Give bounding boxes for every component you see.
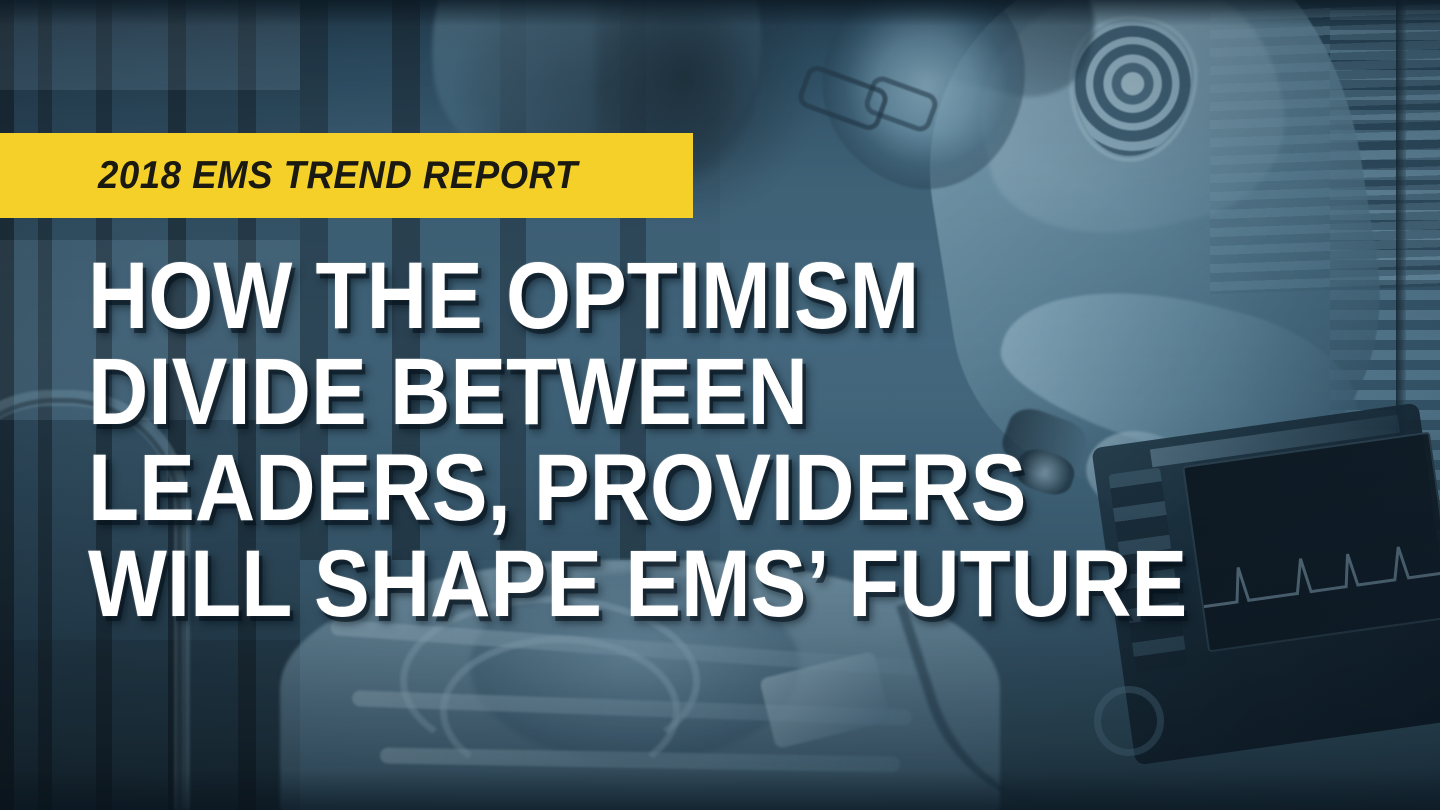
- eyebrow-banner: 2018 EMS TREND REPORT: [0, 133, 693, 218]
- headline-line-1: HOW THE OPTIMISM: [88, 248, 1144, 344]
- text-overlay: 2018 EMS TREND REPORT HOW THE OPTIMISM D…: [0, 0, 1440, 810]
- headline-line-4: WILL SHAPE EMS’ FUTURE: [88, 536, 1144, 632]
- cover-graphic: 2018 EMS TREND REPORT HOW THE OPTIMISM D…: [0, 0, 1440, 810]
- headline-line-2: DIVIDE BETWEEN: [88, 344, 1144, 440]
- headline-line-3: LEADERS, PROVIDERS: [88, 440, 1144, 536]
- page-title: HOW THE OPTIMISM DIVIDE BETWEEN LEADERS,…: [88, 248, 1288, 632]
- eyebrow-label: 2018 EMS TREND REPORT: [98, 154, 578, 198]
